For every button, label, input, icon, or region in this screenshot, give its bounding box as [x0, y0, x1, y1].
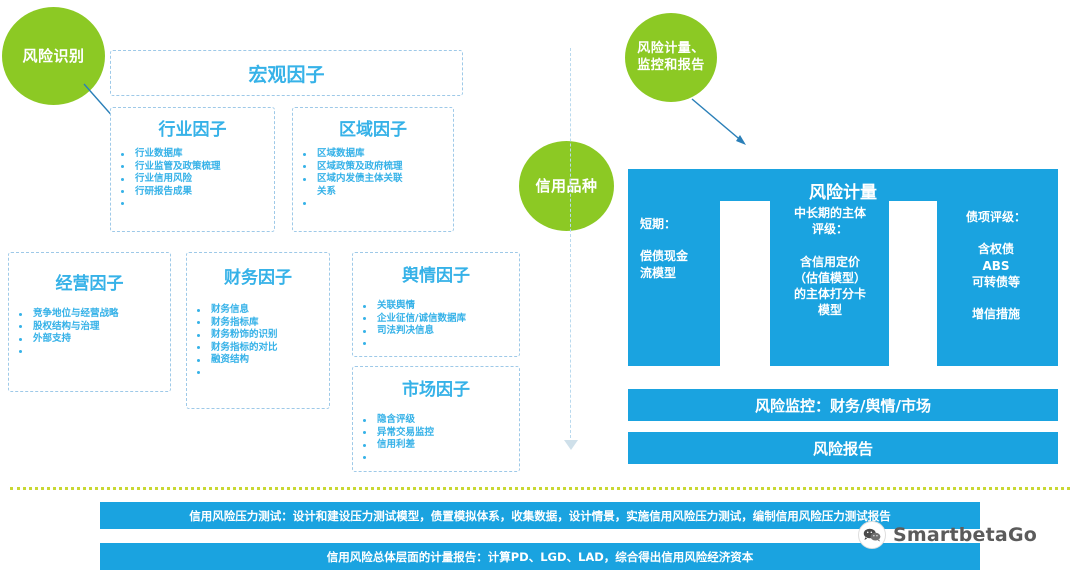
- factor-box-operation[interactable]: 经营因子 竞争地位与经营战略 股权结构与治理 外部支持: [8, 252, 171, 392]
- factor-box-region-title: 区域因子: [299, 115, 447, 140]
- bottom-separator: [10, 487, 1070, 490]
- stress-test-bar-label: 信用风险压力测试：设计和建设压力测试模型，债置模拟体系，收集数据，设计情景，实施…: [189, 508, 891, 524]
- list-item: [15, 346, 164, 358]
- risk-report-bar-label: 风险报告: [813, 438, 873, 459]
- stage-circle-credit-type-label: 信用品种: [529, 177, 603, 196]
- list-item: 区域内发债主体关联 关系: [299, 173, 447, 198]
- list-item: [193, 367, 323, 379]
- factor-box-operation-title: 经营因子: [15, 269, 164, 294]
- panel-connector-arrow-1: [763, 280, 769, 288]
- list-item: 隐含评级: [359, 414, 513, 427]
- factor-box-finance[interactable]: 财务因子 财务信息 财务指标库 财务粉饰的识别 财务指标的对比 融资结构: [186, 252, 330, 409]
- leader-line-measurement: [688, 95, 768, 175]
- list-item: 行业信用风险: [117, 173, 268, 186]
- list-item: [117, 198, 268, 210]
- panel-connector-line-1: [720, 283, 763, 285]
- factor-box-finance-items: 财务信息 财务指标库 财务粉饰的识别 财务指标的对比 融资结构: [193, 304, 323, 379]
- panel-column-bond-rating: 债项评级： 含权债 ABS 可转债等 增信措施: [940, 209, 1052, 322]
- risk-monitoring-bar[interactable]: 风险监控：财务/舆情/市场: [628, 389, 1058, 421]
- panel-column-short-term: 短期： 偿债现金 流模型: [640, 216, 718, 281]
- stage-circle-risk-identification-label: 风险识别: [16, 47, 90, 66]
- factor-box-market[interactable]: 市场因子 隐含评级 异常交易监控 信用利差: [352, 366, 520, 472]
- panel-column-mid-long-term: 中长期的主体 评级： 含信用定价 （估值模型） 的主体打分卡 模型: [772, 205, 888, 318]
- list-item: [299, 198, 447, 210]
- list-item: 企业征信/诚信数据库: [359, 313, 513, 326]
- list-item: 财务指标库: [193, 317, 323, 330]
- list-item: 竞争地位与经营战略: [15, 308, 164, 321]
- list-item: 区域数据库: [299, 148, 447, 161]
- factor-box-sentiment-items: 关联舆情 企业征信/诚信数据库 司法判决信息: [359, 300, 513, 350]
- watermark: SmartbetaGo: [858, 521, 1037, 549]
- panel-connector-arrow-2: [930, 280, 936, 288]
- list-item: [359, 338, 513, 350]
- wechat-icon: [858, 521, 886, 549]
- factor-box-industry-title: 行业因子: [117, 115, 268, 140]
- list-item: 关联舆情: [359, 300, 513, 313]
- stress-test-bar[interactable]: 信用风险压力测试：设计和建设压力测试模型，债置模拟体系，收集数据，设计情景，实施…: [100, 502, 980, 529]
- stage-circle-measurement-monitor-report-label: 风险计量、监控和报告: [625, 41, 717, 74]
- risk-measurement-panel-title: 风险计量: [628, 169, 1058, 203]
- list-item: [359, 452, 513, 464]
- factor-box-industry[interactable]: 行业因子 行业数据库 行业监管及政策梳理 行业信用风险 行研报告成果: [110, 107, 275, 232]
- risk-monitoring-bar-label: 风险监控：财务/舆情/市场: [755, 395, 931, 416]
- factor-box-market-title: 市场因子: [359, 375, 513, 400]
- factor-box-finance-title: 财务因子: [193, 263, 323, 288]
- factor-box-sentiment[interactable]: 舆情因子 关联舆情 企业征信/诚信数据库 司法判决信息: [352, 252, 520, 357]
- factor-box-region[interactable]: 区域因子 区域数据库 区域政策及政府梳理 区域内发债主体关联 关系: [292, 107, 454, 232]
- list-item: 股权结构与治理: [15, 321, 164, 334]
- list-item: 外部支持: [15, 333, 164, 346]
- stage-circle-measurement-monitor-report[interactable]: 风险计量、监控和报告: [625, 13, 717, 102]
- section-divider: [570, 48, 571, 443]
- list-item: 行业数据库: [117, 148, 268, 161]
- list-item: 区域政策及政府梳理: [299, 161, 447, 174]
- factor-box-macro-title: 宏观因子: [111, 60, 462, 87]
- list-item: 财务粉饰的识别: [193, 329, 323, 342]
- risk-report-bar[interactable]: 风险报告: [628, 432, 1058, 464]
- list-item: 融资结构: [193, 354, 323, 367]
- list-item: 司法判决信息: [359, 325, 513, 338]
- factor-box-industry-items: 行业数据库 行业监管及政策梳理 行业信用风险 行研报告成果: [117, 148, 268, 210]
- list-item: 行研报告成果: [117, 186, 268, 199]
- list-item: 财务信息: [193, 304, 323, 317]
- panel-connector-line-2: [889, 283, 930, 285]
- factor-box-macro[interactable]: 宏观因子: [110, 50, 463, 96]
- economic-capital-bar[interactable]: 信用风险总体层面的计量报告：计算PD、LGD、LAD，综合得出信用风险经济资本: [100, 543, 980, 570]
- list-item: 行业监管及政策梳理: [117, 161, 268, 174]
- factor-box-market-items: 隐含评级 异常交易监控 信用利差: [359, 414, 513, 464]
- watermark-label: SmartbetaGo: [893, 524, 1037, 546]
- list-item: 信用利差: [359, 439, 513, 452]
- economic-capital-bar-label: 信用风险总体层面的计量报告：计算PD、LGD、LAD，综合得出信用风险经济资本: [327, 549, 754, 565]
- diagram-canvas: 风险识别 信用品种 风险计量、监控和报告 宏观因子 行业因子 行业数据库 行业监…: [0, 0, 1080, 577]
- factor-box-sentiment-title: 舆情因子: [359, 261, 513, 286]
- list-item: 财务指标的对比: [193, 342, 323, 355]
- list-item: 异常交易监控: [359, 427, 513, 440]
- divider-arrow-icon: [564, 440, 578, 450]
- stage-circle-credit-type[interactable]: 信用品种: [519, 141, 614, 231]
- factor-box-operation-items: 竞争地位与经营战略 股权结构与治理 外部支持: [15, 308, 164, 358]
- factor-box-region-items: 区域数据库 区域政策及政府梳理 区域内发债主体关联 关系: [299, 148, 447, 210]
